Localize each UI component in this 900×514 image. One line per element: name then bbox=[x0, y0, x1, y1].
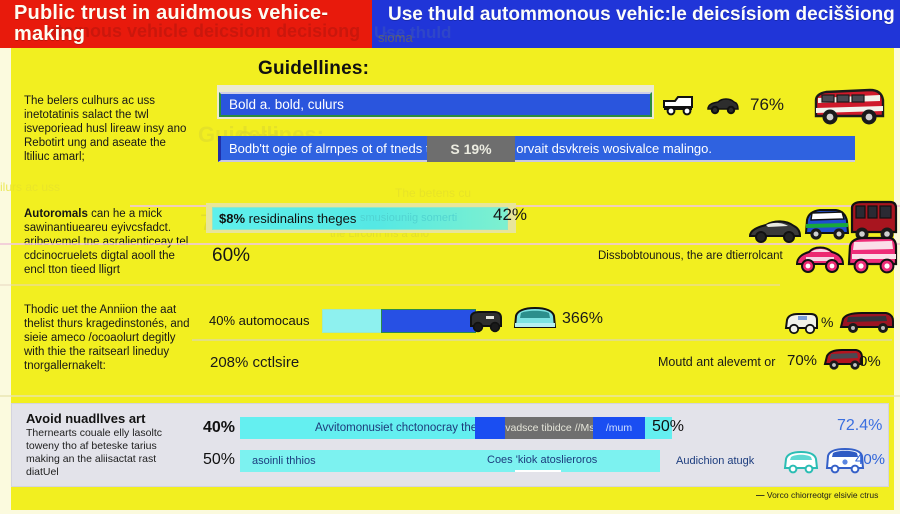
guidelines-bar-2-chip: S 19% bbox=[427, 136, 515, 162]
card-bar-2-percent-right: 40% bbox=[855, 451, 885, 468]
footnote: — Vorco chiorreotgr elsivie ctrus bbox=[756, 490, 878, 500]
footnote-dash: — bbox=[756, 490, 765, 500]
card-bar-2-aud-label: Audichion atugk bbox=[676, 455, 754, 467]
card-bar-2-label: asoinli thhios bbox=[240, 455, 316, 467]
paragraph-2: Autoromals can he a mick sawinantiueareu… bbox=[24, 207, 194, 277]
teal-outline-car-icon bbox=[782, 446, 820, 476]
dark-compact-car-icon bbox=[468, 308, 504, 334]
page-root: utomous vehicle deicsiom decisiong Publi… bbox=[0, 0, 900, 514]
header: utomous vehicle deicsiom decisiong Publi… bbox=[0, 0, 900, 48]
row3-label: 40% automocaus bbox=[209, 313, 309, 328]
card-bar-1-percent-right: 72.4% bbox=[837, 417, 882, 435]
row2-percent-right: 42% bbox=[493, 205, 527, 225]
row2-bar-label: $8% residinalins theges bbox=[213, 211, 356, 226]
divider-c bbox=[0, 284, 780, 286]
guidelines-bar-1-percent: 76% bbox=[750, 95, 784, 115]
divider-d bbox=[192, 339, 892, 341]
page-frame-left bbox=[0, 48, 11, 514]
guidelines-heading: Guidellines: bbox=[258, 58, 369, 80]
row3-bar-blue[interactable] bbox=[381, 309, 476, 333]
bottom-card-title: Avoid nuadllves art bbox=[26, 411, 145, 426]
page-frame-right bbox=[894, 48, 900, 514]
header-left-title: Public trust in auidmous vehice-making bbox=[14, 3, 364, 45]
bottom-card-body: Thernearts couale elly lasoltc toweny th… bbox=[26, 427, 191, 479]
row2-right-text: Dissbobtounous, the are dtierrolcant bbox=[598, 250, 783, 262]
row3-percent-70: 70% bbox=[787, 352, 817, 369]
footnote-text: Vorco chiorreotgr elsivie ctrus bbox=[767, 490, 879, 500]
pink-van-icon bbox=[846, 232, 900, 278]
white-car-icon bbox=[783, 310, 821, 336]
header-right-title: Use thuld autommonous vehic:le deicsísio… bbox=[388, 5, 895, 25]
card-bar-2-percent: 50% bbox=[203, 451, 235, 469]
row2-percent-below: 60% bbox=[212, 245, 250, 267]
header-left-panel: utomous vehicle deicsiom decisiong Publi… bbox=[0, 0, 372, 48]
red-van-icon bbox=[812, 86, 888, 130]
card-bar-1-segment-blue bbox=[475, 417, 505, 439]
row3-percent-0: 0% bbox=[859, 353, 881, 370]
card-bar-2-underline bbox=[515, 470, 561, 472]
row2-bar-label-lead: $8% bbox=[219, 211, 245, 226]
row3-label-below: 208% cctlsire bbox=[210, 354, 299, 371]
paragraph-3: Thodic uet the Anniion the aat thelist t… bbox=[24, 303, 199, 373]
paragraph-1: The belers culhurs ac uss inetotatinis s… bbox=[24, 94, 189, 164]
row3-percent-right: 366% bbox=[562, 310, 603, 328]
guidelines-bar-1[interactable]: Bold a. bold, culurs bbox=[219, 92, 652, 117]
teal-car-front-icon bbox=[512, 305, 558, 333]
sedan-icon-dark bbox=[706, 96, 740, 116]
card-bar-1-segment-gray: Sin vadsce tibidce //Msvi/n bbox=[505, 417, 593, 439]
card-bar-2-mid-label: Coes 'kiok atoslieroros bbox=[487, 454, 597, 466]
card-bar-1-percent: 40% bbox=[203, 419, 235, 437]
ghost-artifact-3: The betens cu bbox=[395, 186, 471, 200]
row3-percent-icon-right: % bbox=[821, 314, 833, 330]
paragraph-2-lead: Autoromals bbox=[24, 208, 88, 220]
page-frame-bottom bbox=[0, 510, 900, 514]
divider-e bbox=[0, 395, 900, 397]
dark-red-wagon-icon bbox=[838, 308, 896, 336]
row2-bar-label-text: residinalins theges bbox=[245, 211, 356, 226]
card-bar-1-segment-blue-2: /mum bbox=[593, 417, 645, 439]
pickup-truck-icon bbox=[662, 94, 696, 116]
card-bar-1-percent-mid: 50% bbox=[652, 418, 684, 436]
header-right-ghost-text-2: sioma bbox=[378, 30, 413, 45]
header-right-panel: Use thuld sioma Use thuld autommonous ve… bbox=[372, 0, 900, 48]
pink-car-icon bbox=[794, 238, 846, 278]
guidelines-bar-1-label: Bold a. bold, culurs bbox=[221, 97, 344, 112]
row3-label-mout: Moutd ant alevemt or bbox=[658, 355, 775, 369]
guidelines-bar-2[interactable]: Bodb'tt ogie of alrnpes ot of tneds tnli… bbox=[218, 136, 855, 162]
row2-bar-ghost-text: smusiouniig somerti bbox=[360, 212, 457, 224]
